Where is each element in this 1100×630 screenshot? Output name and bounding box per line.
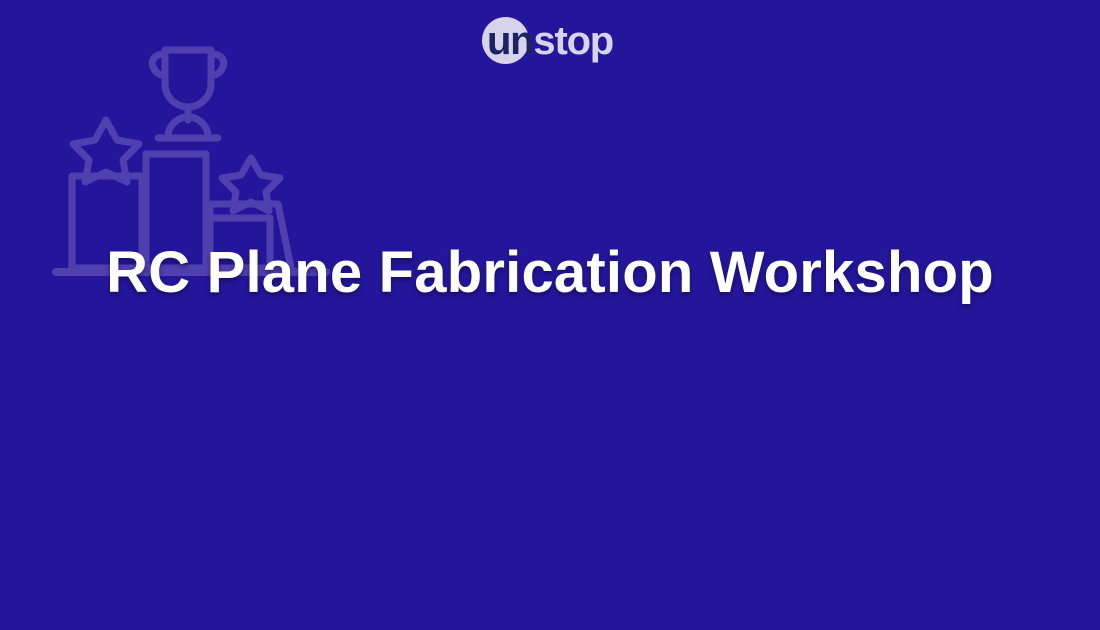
banner-title-block: RC Plane Fabrication Workshop: [0, 228, 1100, 318]
page-title: RC Plane Fabrication Workshop: [90, 228, 1010, 318]
star-right-icon: [222, 158, 280, 211]
logo-text-un: un: [487, 16, 533, 66]
trophy-foot-arch: [168, 117, 208, 137]
unstop-logo[interactable]: un stop: [0, 16, 1100, 66]
star-left-icon: [73, 120, 139, 182]
event-banner: un stop RC Plane Fabrication Workshop: [0, 0, 1100, 630]
logo-wordmark: un stop: [487, 16, 613, 66]
logo-text-stop: stop: [533, 16, 613, 66]
